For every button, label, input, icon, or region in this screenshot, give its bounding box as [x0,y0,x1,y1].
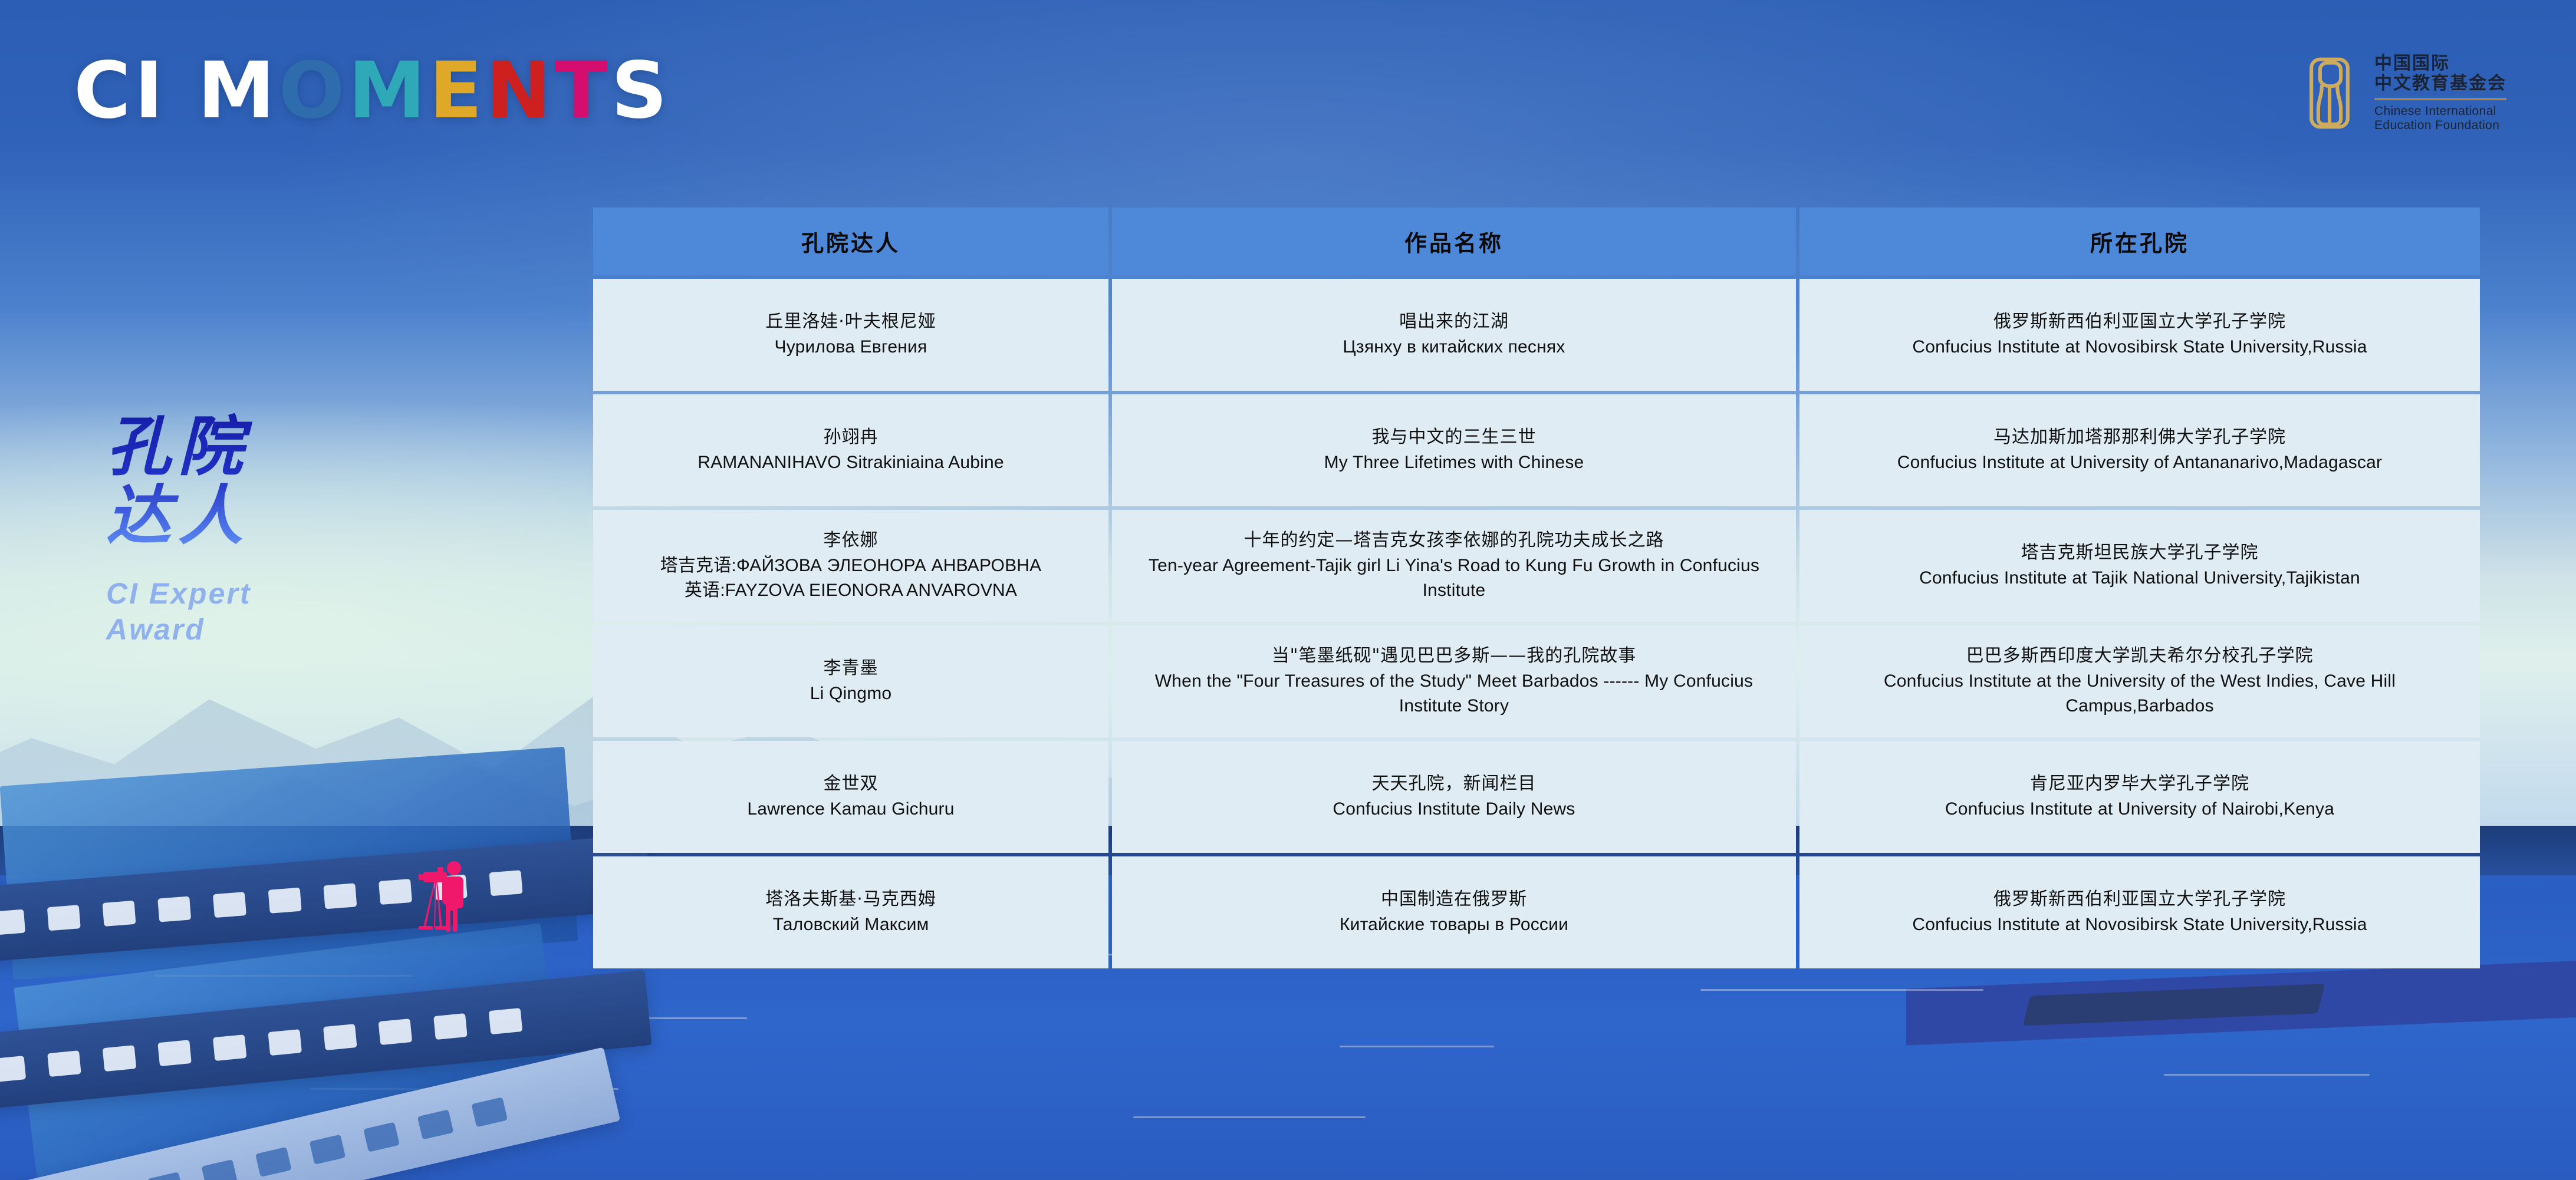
table-cell-work-line-0: 天天孔院，新闻栏目 [1372,772,1537,797]
logo-divider [2374,98,2506,100]
award-title-english-line-1: CI Expert [106,576,383,612]
table-row: 孙翊冉RAMANANIHAVO Sitrakiniaina Aubine我与中文… [593,394,2480,506]
title-letter-3: M [198,52,278,130]
table-cell-work-line-0: 十年的约定—塔吉克女孩李依娜的孔院功夫成长之路 [1244,528,1664,553]
award-title-chinese-line-1: 孔院 [106,413,383,482]
table-cell-work-line-0: 我与中文的三生三世 [1372,425,1537,450]
table-cell-institute-line-0: 俄罗斯新西伯利亚国立大学孔子学院 [1993,309,2286,335]
table-header-row: 孔院达人作品名称所在孔院 [593,207,2480,275]
table-cell-institute: 俄罗斯新西伯利亚国立大学孔子学院Confucius Institute at N… [1799,279,2480,391]
table-cell-person: 金世双Lawrence Kamau Gichuru [593,741,1108,853]
film-perforation [0,909,25,935]
table-header-cell: 孔院达人 [593,207,1108,275]
table-cell-person-line-0: 丘里洛娃·叶夫根尼娅 [765,309,936,335]
table-cell-institute-line-1: Confucius Institute at Tajik National Un… [1919,566,2360,591]
title-letter-6: E [429,52,486,130]
film-perforation [323,883,357,909]
film-perforation [471,1097,508,1127]
table-cell-work: 天天孔院，新闻栏目Confucius Institute Daily News [1112,741,1796,853]
table-cell-person-line-0: 孙翊冉 [824,425,879,450]
table-row: 金世双Lawrence Kamau Gichuru天天孔院，新闻栏目Confuc… [593,741,2480,853]
table-cell-institute: 塔吉克斯坦民族大学孔子学院Confucius Institute at Taji… [1799,510,2480,622]
film-perforation [489,870,523,896]
table-cell-institute-line-1: Confucius Institute at Novosibirsk State… [1912,335,2367,360]
page-title: CI MOMENTS [74,52,671,130]
table-cell-institute-line-0: 肯尼亚内罗毕大学孔子学院 [2030,772,2249,797]
table-cell-institute-line-0: 巴巴多斯西印度大学凯夫希尔分校孔子学院 [1966,644,2314,669]
award-title-block: 孔院 达人 CI Expert Award [106,413,383,648]
table-header-cell: 作品名称 [1112,207,1796,275]
table-cell-work: 唱出来的江湖Цзянху в китайских песнях [1112,279,1796,391]
table-cell-institute: 俄罗斯新西伯利亚国立大学孔子学院Confucius Institute at N… [1799,856,2480,968]
award-title-english-line-2: Award [106,612,383,648]
table-cell-person: 丘里洛娃·叶夫根尼娅Чурилова Евгения [593,279,1108,391]
film-perforation [213,1034,247,1061]
table-cell-work: 中国制造在俄罗斯Китайские товары в России [1112,856,1796,968]
table-cell-person-line-1: Lawrence Kamau Gichuru [747,797,954,822]
table-cell-person-line-1: Таловский Максим [773,912,929,938]
table-cell-institute-line-1: Confucius Institute at University of Nai… [1945,797,2334,822]
title-letter-0: C [74,52,134,130]
film-perforation [255,1147,292,1177]
table-cell-institute-line-0: 马达加斯加塔那那利佛大学孔子学院 [1993,425,2286,450]
film-perforation [147,1172,184,1180]
table-cell-person-line-0: 金世双 [824,772,879,797]
film-perforation [157,1040,192,1066]
table-row: 塔洛夫斯基·马克西姆Таловский Максим中国制造在俄罗斯Китайс… [593,856,2480,968]
foundation-logo: 中国国际 中文教育基金会 Chinese International Educa… [2299,51,2506,136]
table-cell-person-line-0: 李青墨 [824,656,879,681]
award-title-chinese: 孔院 达人 [106,413,383,550]
table-cell-person-line-2: 英语:FAYZOVA EIEONORA ANVAROVNA [685,578,1017,604]
title-letter-1: I [134,52,167,130]
table-cell-work-line-0: 唱出来的江湖 [1399,309,1509,335]
table-cell-person: 李依娜塔吉克语:ФАЙЗОВА ЭЛЕОНОРА АНВАРОВНА英语:FAY… [593,510,1108,622]
table-cell-institute-line-1: Confucius Institute at the University of… [1815,669,2465,719]
table-cell-person-line-0: 塔洛夫斯基·马克西姆 [765,887,936,912]
table-cell-work-line-1: Confucius Institute Daily News [1333,797,1575,822]
table-cell-institute: 肯尼亚内罗毕大学孔子学院Confucius Institute at Unive… [1799,741,2480,853]
logo-chinese-line-1: 中国国际 [2374,54,2506,74]
table-row: 李青墨Li Qingmo当"笔墨纸砚"遇见巴巴多斯——我的孔院故事When th… [593,625,2480,737]
title-letter-8: T [555,52,611,130]
film-perforation [201,1159,238,1180]
table-cell-institute-line-0: 俄罗斯新西伯利亚国立大学孔子学院 [1993,887,2286,912]
film-perforation [489,1008,523,1034]
title-letter-4: O [278,52,348,130]
film-perforation [268,888,302,914]
film-perforation [213,892,246,918]
slide-canvas: CI MOMENTS 中国国际 中文教育基金会 Chinese Internat… [0,0,2576,1180]
table-cell-person: 塔洛夫斯基·马克西姆Таловский Максим [593,856,1108,968]
title-letter-2 [167,52,198,130]
film-perforation [157,896,191,922]
film-perforation [417,1109,454,1139]
table-header-cell: 所在孔院 [1799,207,2480,275]
film-perforation [103,1045,137,1072]
logo-english-line-1: Chinese International [2374,104,2506,118]
film-perforation [103,901,136,927]
table-cell-work-line-1: Ten-year Agreement-Tajik girl Li Yina's … [1127,553,1781,604]
table-row: 丘里洛娃·叶夫根尼娅Чурилова Евгения唱出来的江湖Цзянху в… [593,279,2480,391]
ship-deck-shape [1906,961,2576,1046]
title-letter-9: S [611,52,671,130]
table-cell-institute: 马达加斯加塔那那利佛大学孔子学院Confucius Institute at U… [1799,394,2480,506]
title-letter-7: N [486,52,554,130]
film-perforation [433,1013,468,1040]
film-perforation [47,1050,81,1077]
table-cell-work-line-1: Цзянху в китайских песнях [1343,335,1565,360]
cief-seal-icon [2299,51,2360,136]
table-cell-person-line-0: 李依娜 [824,528,879,553]
table-cell-institute: 巴巴多斯西印度大学凯夫希尔分校孔子学院Confucius Institute a… [1799,625,2480,737]
table-cell-person-line-1: RAMANANIHAVO Sitrakiniaina Aubine [698,450,1004,476]
film-perforation [310,1135,346,1165]
award-title-english: CI Expert Award [106,576,383,648]
table-cell-person-line-1: Li Qingmo [810,681,892,707]
table-cell-work-line-1: Китайские товары в России [1340,912,1568,938]
table-cell-person: 李青墨Li Qingmo [593,625,1108,737]
logo-chinese-line-2: 中文教育基金会 [2374,74,2506,94]
table-cell-person-line-1: Чурилова Евгения [775,335,927,360]
table-row: 李依娜塔吉克语:ФАЙЗОВА ЭЛЕОНОРА АНВАРОВНА英语:FAY… [593,510,2480,622]
table-cell-person-line-1: 塔吉克语:ФАЙЗОВА ЭЛЕОНОРА АНВАРОВНА [660,553,1042,579]
table-cell-institute-line-1: Confucius Institute at University of Ant… [1897,450,2382,476]
logo-english-line-2: Education Foundation [2374,118,2506,133]
film-perforation [379,1019,413,1045]
cameraman-silhouette-icon [407,858,478,952]
table-cell-work: 当"笔墨纸砚"遇见巴巴多斯——我的孔院故事When the "Four Trea… [1112,625,1796,737]
table-cell-work-line-1: When the "Four Treasures of the Study" M… [1127,669,1781,719]
award-title-chinese-line-2: 达人 [106,482,383,551]
table-cell-work-line-0: 当"笔墨纸砚"遇见巴巴多斯——我的孔院故事 [1272,644,1637,669]
film-perforation [323,1024,357,1050]
film-perforation [268,1029,302,1056]
title-letter-5: M [348,52,429,130]
table-cell-work-line-0: 中国制造在俄罗斯 [1381,887,1527,912]
table-cell-work: 我与中文的三生三世My Three Lifetimes with Chinese [1112,394,1796,506]
table-cell-person: 孙翊冉RAMANANIHAVO Sitrakiniaina Aubine [593,394,1108,506]
table-cell-institute-line-1: Confucius Institute at Novosibirsk State… [1912,912,2367,938]
table-cell-work: 十年的约定—塔吉克女孩李依娜的孔院功夫成长之路Ten-year Agreemen… [1112,510,1796,622]
film-perforation [47,905,81,931]
film-perforation [363,1122,400,1152]
table-cell-institute-line-0: 塔吉克斯坦民族大学孔子学院 [2021,540,2259,566]
winners-table: 孔院达人作品名称所在孔院丘里洛娃·叶夫根尼娅Чурилова Евгения唱出… [593,207,2480,968]
table-cell-work-line-1: My Three Lifetimes with Chinese [1324,450,1584,476]
film-perforation [0,1056,26,1082]
